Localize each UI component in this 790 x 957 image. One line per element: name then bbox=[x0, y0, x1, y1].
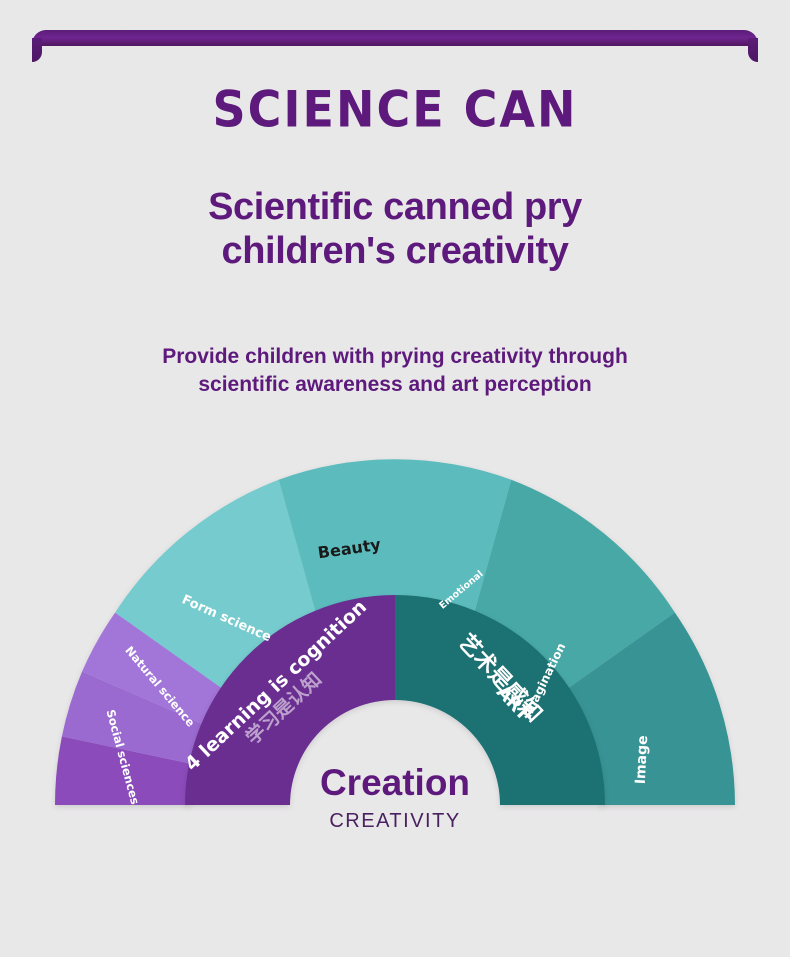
brand-logo-word-2: CAN bbox=[464, 80, 578, 138]
brand-logo-word-1: SCIENCE bbox=[213, 80, 446, 138]
brand-logo: SCIENCECAN bbox=[0, 80, 790, 138]
page-subtitle: Provide children with prying creativity … bbox=[0, 343, 790, 400]
page-subtitle-line-1: Provide children with prying creativity … bbox=[0, 343, 790, 371]
center-subtitle: CREATIVITY bbox=[329, 810, 460, 832]
creativity-half-donut-diagram: Social sciences Natural science Form sci… bbox=[45, 455, 745, 875]
page-title-line-1: Scientific canned pry bbox=[0, 186, 790, 230]
outer-label-image: Image bbox=[633, 735, 652, 785]
topbar-band bbox=[32, 30, 758, 46]
page-subtitle-line-2: scientific awareness and art perception bbox=[0, 371, 790, 399]
page-title: Scientific canned pry children's creativ… bbox=[0, 186, 790, 273]
page-title-line-2: children's creativity bbox=[0, 230, 790, 274]
header-decoration-bar bbox=[0, 30, 790, 70]
topbar-tail-left bbox=[32, 38, 42, 62]
topbar-tail-right bbox=[748, 38, 758, 62]
center-title: Creation bbox=[320, 762, 470, 803]
